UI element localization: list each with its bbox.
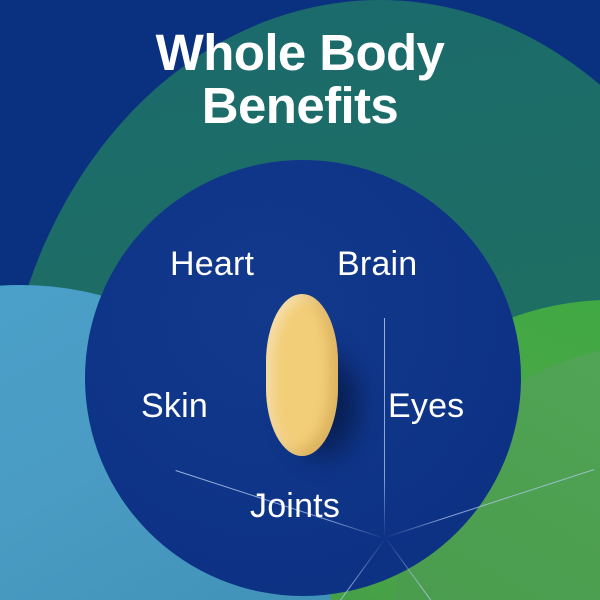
- softgel-capsule-icon: [266, 294, 338, 456]
- page-title: Whole Body Benefits: [0, 26, 600, 132]
- poster-canvas: Whole Body Benefits Heart Brain Skin Eye…: [0, 0, 600, 600]
- benefit-label-eyes: Eyes: [388, 387, 464, 426]
- benefit-label-joints: Joints: [250, 487, 340, 526]
- benefit-label-skin: Skin: [141, 387, 208, 426]
- benefit-label-heart: Heart: [170, 245, 254, 284]
- hub-divider-line-1: [384, 318, 385, 538]
- benefit-label-brain: Brain: [337, 245, 417, 284]
